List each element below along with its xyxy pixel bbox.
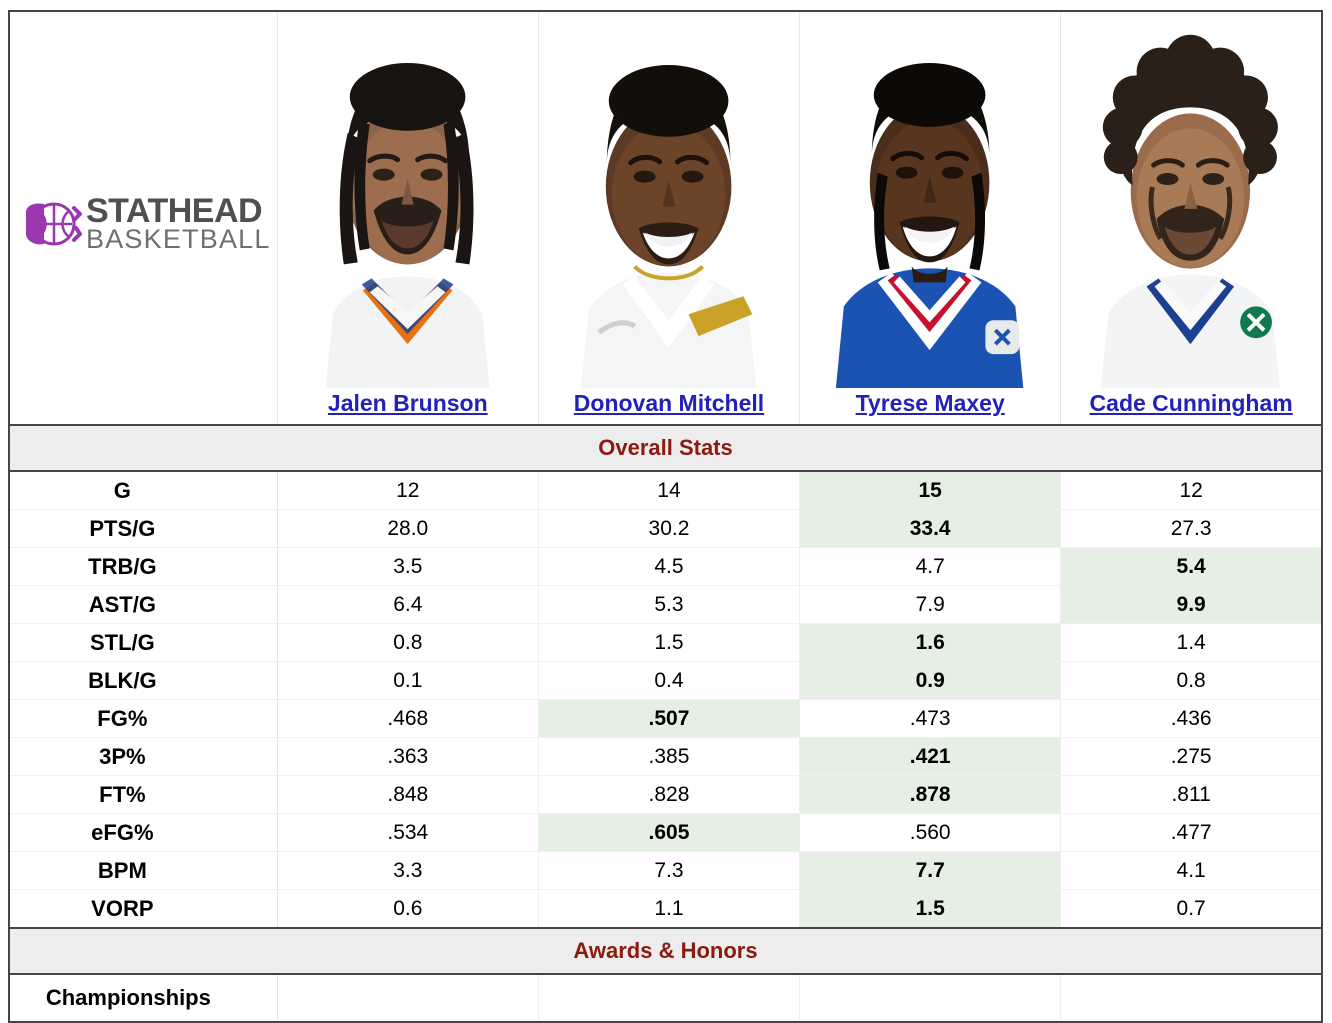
comparison-page: STATHEAD BASKETBALL: [0, 0, 1332, 1016]
stat-value: 0.7: [1061, 890, 1322, 929]
stat-value: .560: [800, 814, 1061, 852]
player-header-3: Cade Cunningham: [1061, 11, 1322, 425]
stat-value: 0.4: [538, 662, 799, 700]
stat-value: 6.4: [277, 586, 538, 624]
player-name-link-2[interactable]: Tyrese Maxey: [800, 388, 1060, 424]
player-header-0: Jalen Brunson: [277, 11, 538, 425]
stat-value-leader: .421: [800, 738, 1061, 776]
stat-value-leader: .605: [538, 814, 799, 852]
table-row: BLK/G 0.1 0.4 0.9 0.8: [9, 662, 1322, 700]
stat-value: 3.5: [277, 548, 538, 586]
stat-value: .848: [277, 776, 538, 814]
section-title-awards-honors: Awards & Honors: [9, 928, 1322, 974]
player-name-link-1[interactable]: Donovan Mitchell: [539, 388, 799, 424]
stat-value: .811: [1061, 776, 1322, 814]
stat-value: 5.3: [538, 586, 799, 624]
stat-label: eFG%: [9, 814, 277, 852]
brand-logo-cell: STATHEAD BASKETBALL: [9, 11, 277, 425]
stat-value: 0.1: [277, 662, 538, 700]
stat-value: .436: [1061, 700, 1322, 738]
brand-name-primary: STATHEAD: [86, 196, 271, 227]
player-header-2: Tyrese Maxey: [800, 11, 1061, 425]
section-header-awards-honors: Awards & Honors: [9, 928, 1322, 974]
table-row: TRB/G 3.5 4.5 4.7 5.4: [9, 548, 1322, 586]
stat-value: 1.5: [538, 624, 799, 662]
stat-value: 4.5: [538, 548, 799, 586]
player-headshot-jalen-brunson: [278, 14, 538, 388]
player-header-1: Donovan Mitchell: [538, 11, 799, 425]
stat-value: .534: [277, 814, 538, 852]
table-row: AST/G 6.4 5.3 7.9 9.9: [9, 586, 1322, 624]
player-name-link-3[interactable]: Cade Cunningham: [1061, 388, 1321, 424]
stat-label: G: [9, 471, 277, 510]
stat-value: 0.6: [277, 890, 538, 929]
stat-label: BLK/G: [9, 662, 277, 700]
stat-label: AST/G: [9, 586, 277, 624]
stat-value: 4.7: [800, 548, 1061, 586]
player-headshot-cade-cunningham: [1061, 14, 1321, 388]
table-row: G 12 14 15 12: [9, 471, 1322, 510]
player-comparison-table: STATHEAD BASKETBALL: [8, 10, 1323, 1023]
section-title-overall-stats: Overall Stats: [9, 425, 1322, 471]
table-row: 3P% .363 .385 .421 .275: [9, 738, 1322, 776]
stathead-logo: STATHEAD BASKETBALL: [24, 194, 272, 254]
stat-value: 7.9: [800, 586, 1061, 624]
stat-value: .385: [538, 738, 799, 776]
table-row: FT% .848 .828 .878 .811: [9, 776, 1322, 814]
stat-value: 28.0: [277, 510, 538, 548]
stat-label: FG%: [9, 700, 277, 738]
stat-value-leader: 33.4: [800, 510, 1061, 548]
player-headshot-tyrese-maxey: [800, 14, 1060, 388]
stat-value: .275: [1061, 738, 1322, 776]
award-label: Championships: [9, 974, 277, 1022]
award-value: [538, 974, 799, 1022]
stat-value: 12: [1061, 471, 1322, 510]
stat-value-leader: 15: [800, 471, 1061, 510]
table-row: PTS/G 28.0 30.2 33.4 27.3: [9, 510, 1322, 548]
stat-value-leader: 0.9: [800, 662, 1061, 700]
player-name-link-0[interactable]: Jalen Brunson: [278, 388, 538, 424]
stat-label: PTS/G: [9, 510, 277, 548]
table-header-row: STATHEAD BASKETBALL: [9, 11, 1322, 425]
stat-value: 27.3: [1061, 510, 1322, 548]
basketball-arrow-logo-icon: [24, 198, 82, 250]
stat-value-leader: 7.7: [800, 852, 1061, 890]
stat-value: 3.3: [277, 852, 538, 890]
stat-value: .473: [800, 700, 1061, 738]
stat-value: 0.8: [1061, 662, 1322, 700]
stat-value: 1.4: [1061, 624, 1322, 662]
stat-value-leader: 1.6: [800, 624, 1061, 662]
table-row: BPM 3.3 7.3 7.7 4.1: [9, 852, 1322, 890]
table-row: Championships: [9, 974, 1322, 1022]
award-value: [277, 974, 538, 1022]
stat-value: 7.3: [538, 852, 799, 890]
table-row: eFG% .534 .605 .560 .477: [9, 814, 1322, 852]
stat-value-leader: 9.9: [1061, 586, 1322, 624]
table-row: VORP 0.6 1.1 1.5 0.7: [9, 890, 1322, 929]
stat-value-leader: .507: [538, 700, 799, 738]
stat-value: .477: [1061, 814, 1322, 852]
stat-value: 14: [538, 471, 799, 510]
stat-label: 3P%: [9, 738, 277, 776]
stat-value: 30.2: [538, 510, 799, 548]
stat-value: .468: [277, 700, 538, 738]
stat-value-leader: 5.4: [1061, 548, 1322, 586]
brand-name-secondary: BASKETBALL: [86, 227, 271, 252]
table-row: STL/G 0.8 1.5 1.6 1.4: [9, 624, 1322, 662]
table-row: FG% .468 .507 .473 .436: [9, 700, 1322, 738]
stat-value-leader: 1.5: [800, 890, 1061, 929]
stat-value-leader: .878: [800, 776, 1061, 814]
stat-value: 1.1: [538, 890, 799, 929]
player-headshot-donovan-mitchell: [539, 14, 799, 388]
stat-value: .363: [277, 738, 538, 776]
stat-label: TRB/G: [9, 548, 277, 586]
stat-value: 0.8: [277, 624, 538, 662]
award-value: [1061, 974, 1322, 1022]
stat-label: FT%: [9, 776, 277, 814]
stat-value: .828: [538, 776, 799, 814]
award-value: [800, 974, 1061, 1022]
stat-value: 4.1: [1061, 852, 1322, 890]
stat-label: STL/G: [9, 624, 277, 662]
stat-label: VORP: [9, 890, 277, 929]
section-header-overall-stats: Overall Stats: [9, 425, 1322, 471]
stat-value: 12: [277, 471, 538, 510]
stat-label: BPM: [9, 852, 277, 890]
